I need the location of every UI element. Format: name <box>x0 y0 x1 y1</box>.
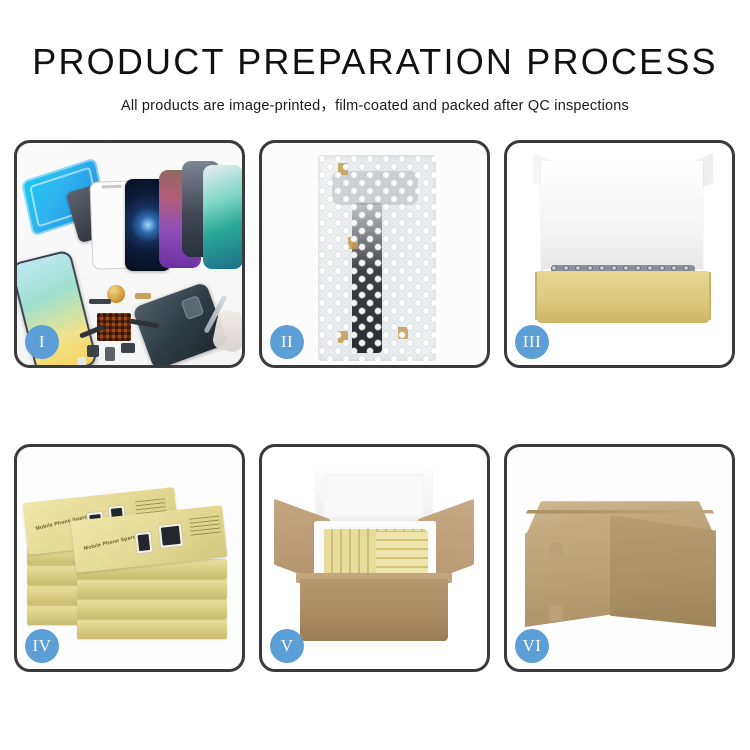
kraft-box-body <box>537 271 709 323</box>
button-part-icon <box>87 345 99 357</box>
step-panel-4[interactable]: Mobile Phone Spare Parts Mobile Phone Sp… <box>14 444 245 672</box>
step-panel-1[interactable]: I <box>14 140 245 368</box>
carton-right-face <box>610 515 716 627</box>
step-panel-2[interactable]: II <box>259 140 490 368</box>
box-stack: Mobile Phone Spare Parts Mobile Phone Sp… <box>21 473 243 653</box>
bubble-texture <box>318 155 436 361</box>
step-panel-6[interactable]: VI <box>504 444 735 672</box>
step-badge-2: II <box>270 325 304 359</box>
packed-boxes-row <box>376 531 428 575</box>
step-badge-3: III <box>515 325 549 359</box>
box-spec-lines <box>189 516 221 537</box>
product-preparation-infographic: PRODUCT PREPARATION PROCESS All products… <box>0 0 750 750</box>
box-thumbnail <box>134 531 153 555</box>
step-panel-3[interactable]: III <box>504 140 735 368</box>
camera-part-icon <box>105 347 115 361</box>
stacked-box <box>77 579 227 599</box>
carton-left-face <box>525 523 611 627</box>
connector-icon <box>135 293 151 299</box>
white-box-lid <box>541 161 703 273</box>
step-badge-4: IV <box>25 629 59 663</box>
carton-front-face <box>300 579 448 641</box>
sim-tray-icon <box>77 357 86 368</box>
bubble-bag <box>318 155 436 361</box>
step-badge-6: VI <box>515 629 549 663</box>
phone-screen-teal-icon <box>203 165 243 269</box>
carton-tape-patch <box>549 543 563 559</box>
process-step-grid: I II <box>14 140 736 686</box>
header: PRODUCT PREPARATION PROCESS All products… <box>0 0 750 115</box>
step-panel-5[interactable]: V <box>259 444 490 672</box>
bracket-part-icon <box>121 343 135 353</box>
carton-tape-seam <box>526 510 714 513</box>
stacked-box <box>77 619 227 639</box>
stacked-box <box>77 599 227 619</box>
chip-icon <box>89 299 111 304</box>
step-badge-1: I <box>25 325 59 359</box>
step-badge-5: V <box>270 629 304 663</box>
box-thumbnail <box>158 523 184 549</box>
page-title: PRODUCT PREPARATION PROCESS <box>0 44 750 80</box>
carton-tape-patch <box>549 605 563 621</box>
styrofoam-lid <box>316 465 432 525</box>
page-subtitle: All products are image-printed，film-coat… <box>0 94 750 115</box>
